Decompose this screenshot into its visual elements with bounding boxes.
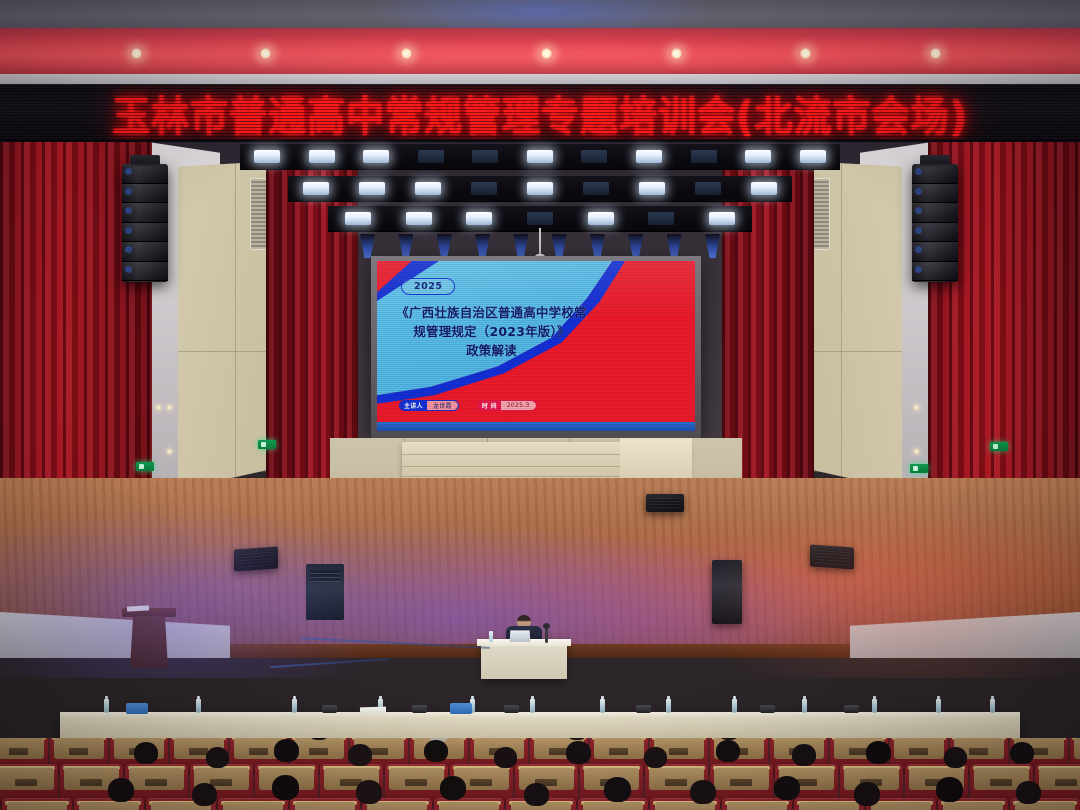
wall-sconce-icon [166, 404, 173, 411]
stage-light-fixture [636, 150, 662, 163]
par-can-icon [360, 234, 375, 258]
water-bottle-icon [802, 699, 807, 713]
av-equipment-rack [306, 564, 344, 620]
par-can-icon [513, 234, 528, 258]
front-table-edge [60, 712, 1020, 718]
par-can-icon [705, 234, 720, 258]
document-papers [360, 707, 386, 715]
wall-seam [235, 160, 236, 490]
slide-host-value: 龙世霞 [427, 401, 458, 410]
audience-seating [0, 738, 1080, 810]
conference-mic-unit [504, 705, 519, 713]
slide-title-line-1: 《广西壮族自治区普通高中学校常 [377, 303, 606, 322]
side-podium [122, 608, 176, 668]
ceiling-downlight-icon [130, 48, 143, 59]
stage-light-fixture [581, 150, 607, 163]
stage-light-fixture [691, 150, 717, 163]
water-bottle-icon [196, 699, 201, 713]
slide-title: 《广西壮族自治区普通高中学校常 规管理规定（2023年版）》 政策解读 [377, 303, 606, 360]
ceiling-downlight-icon [400, 48, 413, 59]
stage-light-fixture [527, 150, 553, 163]
floor-monitor-left [234, 546, 278, 571]
stage-light-fixture [415, 182, 441, 195]
stage-light-fixture [527, 182, 553, 195]
conference-mic-unit [844, 705, 859, 713]
par-can-icon [398, 234, 413, 258]
stage-light-fixture [254, 150, 280, 163]
slide-host-pill: 主讲人 龙世霞 [399, 400, 459, 411]
wall-sconce-icon [913, 448, 920, 455]
exit-sign-icon [990, 442, 1008, 451]
exit-sign-icon [136, 462, 154, 471]
stage-light-fixture [709, 212, 735, 225]
conference-mic-unit [636, 705, 651, 713]
stage-light-fixture [363, 150, 389, 163]
tissue-box [450, 703, 472, 714]
floor-monitor-center [646, 494, 684, 512]
stage-light-fixture [588, 212, 614, 225]
stage-light-fixture [527, 212, 553, 225]
exit-sign-icon [910, 464, 928, 473]
water-bottle-icon [530, 699, 535, 713]
stage-light-fixture [303, 182, 329, 195]
stage-light-fixture [695, 182, 721, 195]
led-banner-text: 玉林市普通高中常规管理专题培训会(北流市会场) [112, 84, 968, 142]
water-bottle-icon [292, 699, 297, 713]
truss-row-2 [288, 176, 792, 202]
stage-light-fixture [309, 150, 335, 163]
led-screen-frame: 2025 《广西壮族自治区普通高中学校常 规管理规定（2023年版）》 政策解读… [371, 256, 701, 438]
stage-light-fixture [639, 182, 665, 195]
stage-light-fixture [751, 182, 777, 195]
truss-row-1 [240, 144, 840, 170]
floor-monitor-right [810, 544, 854, 569]
slide-host-label: 主讲人 [400, 401, 427, 410]
stage-light-fixture [648, 212, 674, 225]
conference-mic-unit [322, 705, 337, 713]
water-bottle-icon [936, 699, 941, 713]
water-bottle-icon [990, 699, 995, 713]
stage-light-fixture [745, 150, 771, 163]
presenter-table [481, 639, 567, 679]
desk-microphone-icon [545, 626, 548, 643]
wall-sconce-icon [155, 404, 162, 411]
water-bottle-icon [600, 699, 605, 713]
slide-bottom-strip [377, 422, 695, 431]
slide-meta-row: 主讲人 龙世霞 时 间 2025.3 [399, 400, 537, 411]
conference-mic-unit [760, 705, 775, 713]
wall-sconce-icon [166, 448, 173, 455]
slide-time-label: 时 间 [478, 401, 501, 410]
stage-light-fixture [406, 212, 432, 225]
stage-light-fixture [471, 182, 497, 195]
slide-time-value: 2025.3 [501, 401, 536, 410]
line-array-speaker-right [912, 164, 958, 282]
par-can-icon [475, 234, 490, 258]
stage-light-fixture [466, 212, 492, 225]
water-bottle-icon [489, 631, 493, 642]
tissue-box [126, 703, 148, 714]
wall-sconce-icon [913, 404, 920, 411]
led-banner: 玉林市普通高中常规管理专题培训会(北流市会场) [0, 84, 1080, 142]
stage-light-fixture [472, 150, 498, 163]
podium-body [130, 616, 168, 668]
slide-title-line-3: 政策解读 [377, 341, 606, 360]
laptop-icon [510, 630, 531, 642]
par-can-icon [667, 234, 682, 258]
presentation-screen[interactable]: 2025 《广西壮族自治区普通高中学校常 规管理规定（2023年版）》 政策解读… [377, 261, 695, 431]
auditorium-scene: 玉林市普通高中常规管理专题培训会(北流市会场) [0, 0, 1080, 810]
slide-year-badge: 2025 [401, 278, 455, 295]
stage-light-fixture [345, 212, 371, 225]
par-can-icon [628, 234, 643, 258]
slide-time-pill: 时 间 2025.3 [477, 400, 537, 411]
ceiling-red-band [0, 28, 1080, 80]
water-bottle-icon [104, 699, 109, 713]
stage-cable [270, 658, 390, 668]
line-array-speaker-left [122, 164, 168, 282]
ceiling-downlight-icon [540, 48, 553, 59]
water-bottle-icon [872, 699, 877, 713]
hanging-microphone-icon [539, 228, 541, 258]
lighting-truss [240, 142, 840, 262]
stage-light-fixture [800, 150, 826, 163]
par-can-icon [590, 234, 605, 258]
stage-stack-speaker [712, 560, 742, 624]
par-can-icon [552, 234, 567, 258]
conference-mic-unit [412, 705, 427, 713]
stage-light-fixture [418, 150, 444, 163]
stage-light-fixture [583, 182, 609, 195]
par-can-icon [437, 234, 452, 258]
hall-body: 2025 《广西壮族自治区普通高中学校常 规管理规定（2023年版）》 政策解读… [0, 142, 1080, 810]
ceiling-downlight-icon [670, 48, 683, 59]
ceiling-downlight-icon [929, 48, 942, 59]
wall-seam [841, 160, 842, 490]
stage-light-fixture [359, 182, 385, 195]
exit-sign-icon [258, 440, 276, 449]
water-bottle-icon [732, 699, 737, 713]
water-bottle-icon [666, 699, 671, 713]
slide-title-line-2: 规管理规定（2023年版）》 [377, 322, 606, 341]
